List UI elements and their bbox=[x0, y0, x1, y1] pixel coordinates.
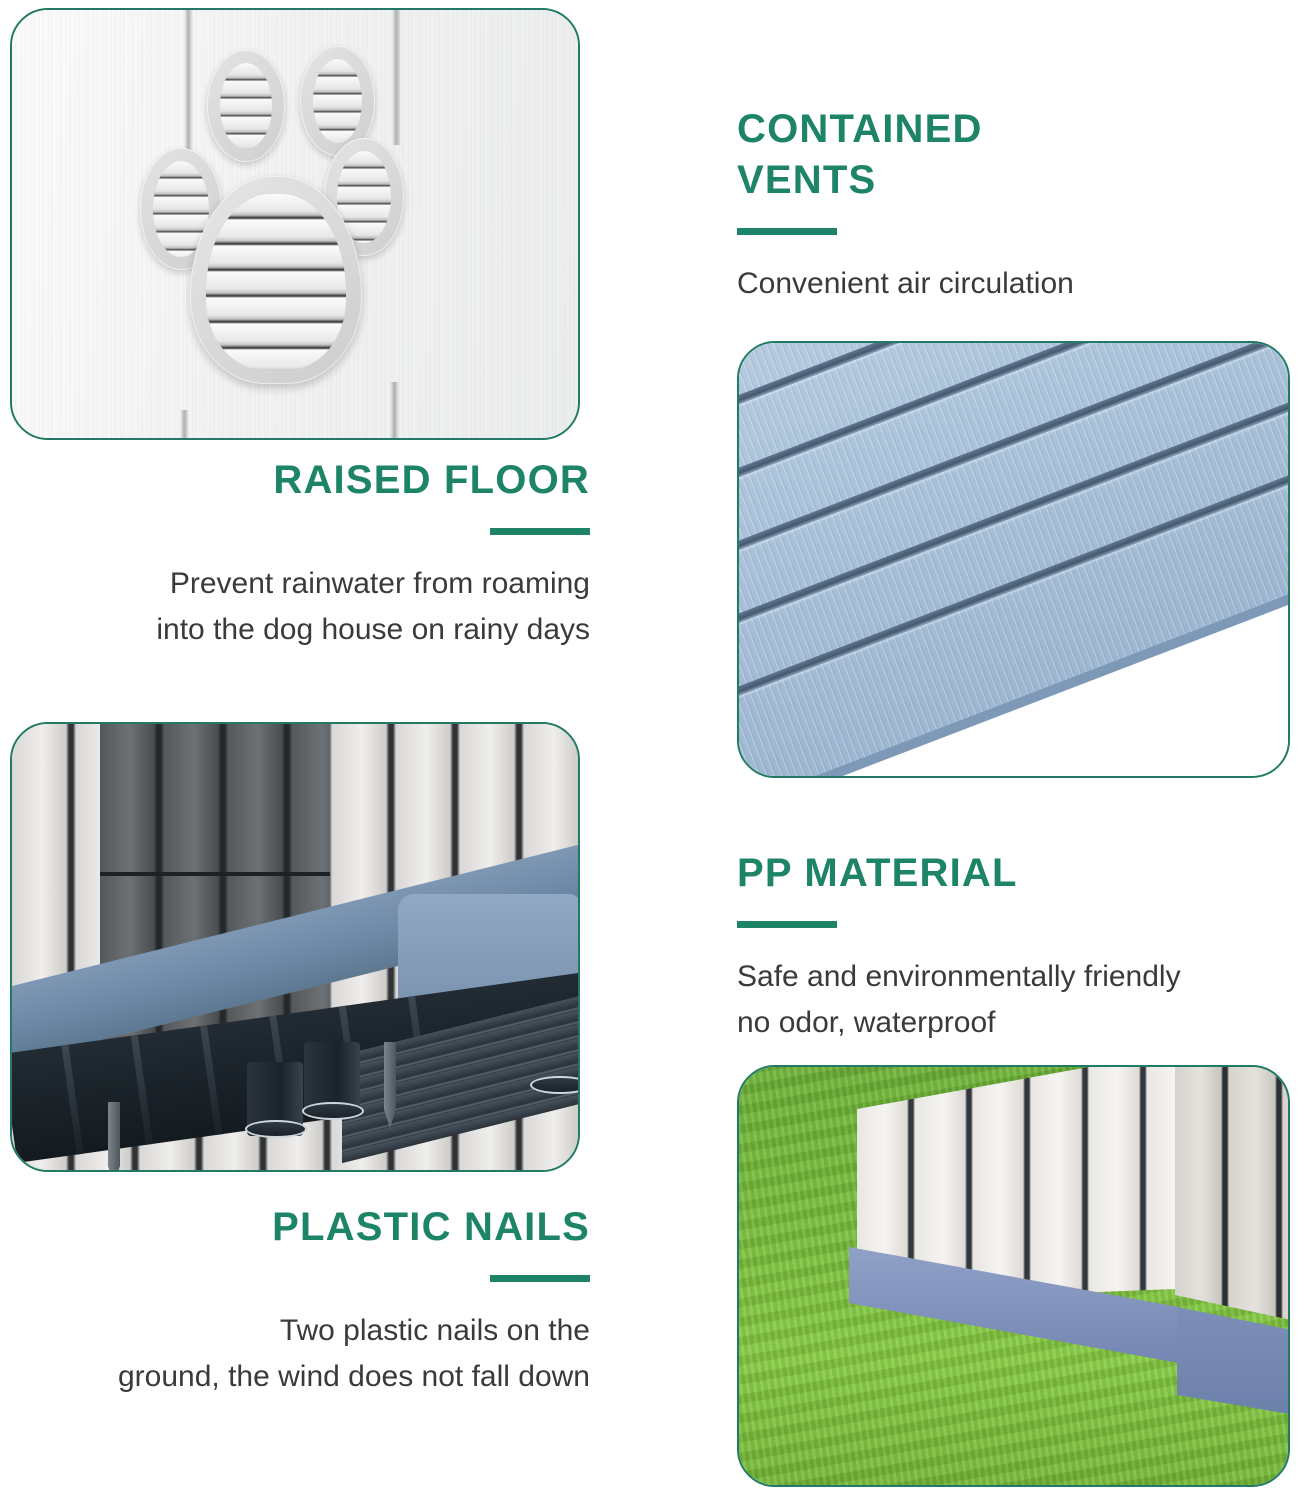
plastic-nails-accent-rule bbox=[490, 1275, 590, 1282]
underside-rib-2 bbox=[131, 1035, 153, 1145]
underside-rib-1 bbox=[61, 1045, 83, 1155]
paw-vent-image-panel bbox=[10, 8, 580, 440]
plastic-nails-heading: PLASTIC NAILS bbox=[20, 1202, 590, 1253]
base-underside-image-panel bbox=[10, 722, 580, 1172]
feature-block-pp-material: PP MATERIAL Safe and environmentally fri… bbox=[737, 848, 1287, 1045]
raised-floor-accent-rule bbox=[490, 528, 590, 535]
feature-block-plastic-nails: PLASTIC NAILS Two plastic nails on the g… bbox=[20, 1202, 590, 1399]
contained-vents-heading: CONTAINED VENTS bbox=[737, 104, 1277, 206]
paw-print-vent bbox=[132, 44, 472, 414]
wall-seam-bottom-left bbox=[180, 410, 189, 440]
nail-post-ring-right bbox=[302, 1102, 364, 1120]
plastic-nails-description: Two plastic nails on the ground, the win… bbox=[20, 1308, 590, 1399]
contained-vents-description: Convenient air circulation bbox=[737, 261, 1277, 307]
roof-groove-3 bbox=[737, 341, 1290, 605]
pp-material-heading: PP MATERIAL bbox=[737, 848, 1287, 899]
underside-rib-3 bbox=[200, 1025, 222, 1135]
pp-material-description: Safe and environmentally friendly no odo… bbox=[737, 954, 1287, 1045]
contained-vents-accent-rule bbox=[737, 228, 837, 235]
grass-corner-image-panel bbox=[737, 1065, 1290, 1487]
feature-infographic: CONTAINED VENTS Convenient air circulati… bbox=[0, 0, 1304, 1500]
blue-roof-scene bbox=[739, 343, 1288, 776]
nail-post-ring-left bbox=[245, 1120, 307, 1138]
feature-block-contained-vents: CONTAINED VENTS Convenient air circulati… bbox=[737, 104, 1277, 307]
raised-floor-description: Prevent rainwater from roaming into the … bbox=[20, 561, 590, 652]
pp-material-accent-rule bbox=[737, 921, 837, 928]
dog-house-side-wall bbox=[1175, 1065, 1290, 1323]
paw-toe-vent-top-left bbox=[207, 50, 285, 162]
base-underside-scene bbox=[12, 724, 578, 1170]
blue-roof-image-panel bbox=[737, 341, 1290, 778]
plastic-nail-left bbox=[108, 1102, 120, 1172]
paw-vent-scene bbox=[12, 10, 578, 438]
dark-wall-horizontal-seam bbox=[100, 872, 330, 876]
paw-pad-vent bbox=[190, 176, 362, 384]
grass-corner-scene bbox=[739, 1067, 1288, 1485]
raised-floor-heading: RAISED FLOOR bbox=[20, 455, 590, 506]
feature-block-raised-floor: RAISED FLOOR Prevent rainwater from roam… bbox=[20, 455, 590, 652]
